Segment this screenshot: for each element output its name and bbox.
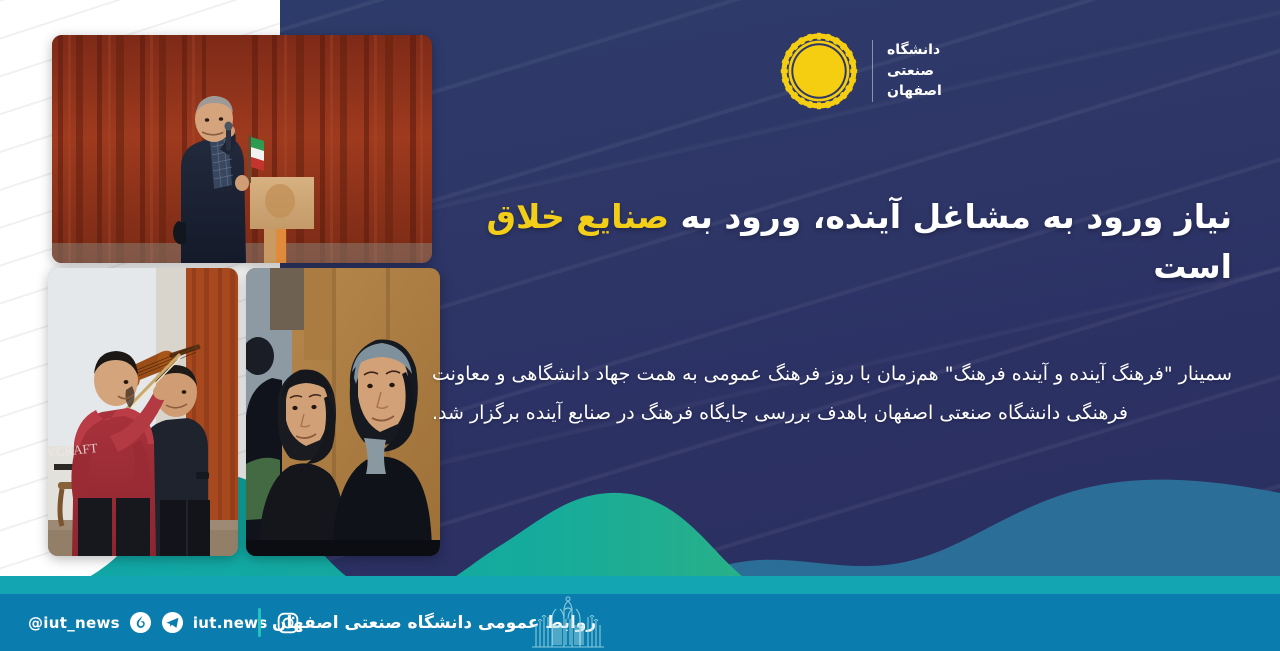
body-paragraph: سمینار "فرهنگ آینده و آینده فرهنگ" هم‌زم… [432, 355, 1232, 433]
photo-speaker-at-podium [52, 35, 432, 263]
footer-bar: iut.news @iut_news روابط [0, 594, 1280, 651]
isfahan-building-motif-icon [520, 595, 616, 651]
university-logo-wordmark: دانشگاه صنعتی اصفهان [887, 41, 942, 102]
logo-line-1: دانشگاه [887, 41, 940, 60]
headline: نیاز ورود به مشاغل آینده، ورود به صنایع … [422, 192, 1232, 291]
headline-highlight: صنایع خلاق [486, 197, 669, 236]
instagram-handle[interactable]: iut.news [193, 614, 268, 632]
photo-audience-women [246, 268, 440, 556]
poster-canvas: VCRAFT [0, 0, 1280, 651]
logo-line-3: اصفهان [887, 82, 942, 101]
university-logo: دانشگاه صنعتی اصفهان [780, 28, 980, 114]
logo-line-2: صنعتی [887, 62, 934, 81]
bale-icon[interactable] [129, 611, 152, 634]
logo-divider [872, 40, 873, 102]
telegram-icon[interactable] [161, 611, 184, 634]
iut-gear-emblem-icon [780, 32, 858, 110]
headline-part-2: است [1153, 247, 1232, 286]
headline-part-1: نیاز ورود به مشاغل آینده، ورود به [669, 197, 1232, 236]
photo-violin-performance: VCRAFT [48, 268, 238, 556]
teal-divider-strip [0, 576, 1280, 594]
messaging-handle[interactable]: @iut_news [28, 614, 120, 632]
footer-separator [258, 608, 261, 637]
